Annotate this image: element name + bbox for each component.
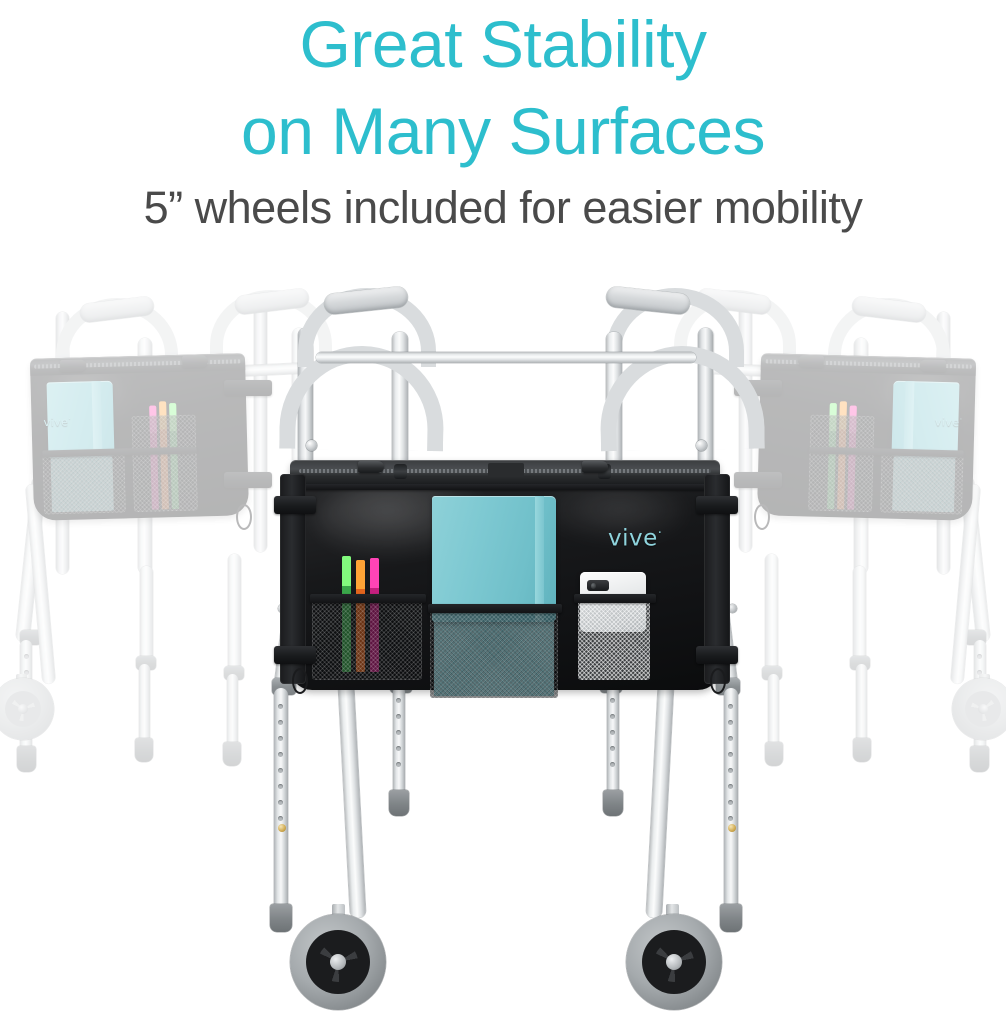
walker-center-holes-inner-left bbox=[396, 698, 401, 778]
walker-center-wheel-right-axle bbox=[666, 954, 682, 970]
walker-center-holes-inner-right bbox=[610, 698, 615, 778]
walker-center-brand-text: vive bbox=[608, 526, 658, 552]
walker-center-strap-right-lower bbox=[696, 646, 738, 664]
walker-center-cross-bar-top bbox=[316, 352, 696, 363]
walker-right-zipper-pull-a[interactable] bbox=[920, 359, 946, 372]
walker-center-wheel-left-axle bbox=[330, 954, 346, 970]
walker-center-brand-logo: vive· bbox=[608, 522, 662, 551]
walker-right-brand-text: vive bbox=[935, 415, 960, 429]
walker-center-mesh-pocket-right bbox=[578, 600, 650, 680]
walker-center-brand-dot: · bbox=[658, 526, 663, 541]
walker-left-mesh-pocket-left bbox=[42, 452, 126, 514]
walker-left-wheel-axle bbox=[18, 704, 28, 714]
walker-center-strap-left-lower bbox=[274, 646, 316, 664]
walker-center-phone-camera-bar bbox=[587, 580, 609, 590]
headline-line-1: Great Stability bbox=[0, 0, 1006, 88]
walker-center-rivet-right bbox=[696, 440, 707, 451]
headline-block: Great Stability on Many Surfaces 5” whee… bbox=[0, 0, 1006, 238]
walker-center-wheel-left[interactable] bbox=[290, 914, 386, 1010]
walker-right-brand-dot: · bbox=[960, 415, 963, 423]
walker-right-leg-tip-2 bbox=[853, 738, 871, 762]
walker-left-leg-rear-inner-ext bbox=[139, 664, 150, 744]
walker-right-notebook-band bbox=[903, 381, 914, 457]
walker-center-brass-knob-right bbox=[728, 824, 736, 832]
walker-right-leg-tip-1 bbox=[970, 746, 989, 772]
walker-left-leg-tip-1 bbox=[17, 746, 36, 772]
walker-left-leg-tip-2 bbox=[135, 738, 153, 762]
walker-center-mesh-pocket-center bbox=[430, 610, 558, 698]
walker-center-mesh-pocket-left bbox=[312, 600, 422, 680]
walker-left-zipper-pull-a[interactable] bbox=[60, 359, 86, 372]
walker-center-zipper-slider-left[interactable] bbox=[394, 464, 407, 479]
product-scene: vive· bbox=[0, 268, 1006, 1024]
walker-center-zipper-pull-right[interactable] bbox=[582, 461, 608, 473]
walker-right-leg-rear-inner bbox=[853, 566, 866, 664]
promo-image: Great Stability on Many Surfaces 5” whee… bbox=[0, 0, 1006, 1024]
walker-center-d-ring-left bbox=[292, 668, 308, 694]
walker-center-strap-right-upper bbox=[696, 496, 738, 514]
walker-left-brand-logo: vive· bbox=[43, 414, 71, 428]
walker-right-pouch: vive· bbox=[757, 353, 976, 521]
walker-center-holes-outer-left bbox=[278, 704, 283, 832]
walker-right-brand-logo: vive· bbox=[935, 414, 963, 428]
walker-left-leg-rear-inner bbox=[140, 566, 153, 664]
walker-center-front-panel-seam bbox=[290, 484, 720, 490]
walker-left-zipper-pull-b[interactable] bbox=[182, 355, 208, 368]
walker-center-strap-left-upper bbox=[274, 496, 316, 514]
walker-center-pouch: vive· bbox=[290, 460, 720, 690]
walker-center-holes-outer-right bbox=[728, 704, 733, 832]
walker-center-brass-knob-left bbox=[278, 824, 286, 832]
walker-center-pocket-edge-left bbox=[310, 594, 426, 603]
walker-center-center-tab bbox=[488, 463, 524, 477]
subheadline: 5” wheels included for easier mobility bbox=[0, 178, 1006, 238]
walker-right-wheel-axle bbox=[978, 704, 988, 714]
walker-center-d-ring-right bbox=[710, 668, 726, 694]
walker-center-tip-outer-right bbox=[720, 904, 742, 932]
walker-center-tip-inner-left bbox=[389, 790, 409, 816]
headline-line-2: on Many Surfaces bbox=[0, 88, 1006, 174]
walker-right-wheel[interactable] bbox=[952, 678, 1006, 740]
walker-left-brand-dot: · bbox=[68, 415, 71, 423]
walker-left-brand-text: vive bbox=[43, 416, 68, 430]
walker-left-pouch: vive· bbox=[30, 353, 249, 521]
walker-left-mesh-pocket-right bbox=[131, 415, 197, 513]
walker-center-tip-outer-left bbox=[270, 904, 292, 932]
walker-center-wheel-right[interactable] bbox=[626, 914, 722, 1010]
walker-right-zipper-pull-b[interactable] bbox=[798, 355, 824, 368]
walker-left-wheel[interactable] bbox=[0, 678, 54, 740]
walker-center-pocket-edge-center bbox=[428, 604, 562, 613]
walker-right-mesh-pocket-right bbox=[808, 415, 874, 513]
walker-right-leg-rear-inner-ext bbox=[856, 664, 867, 744]
walker-center-tip-inner-right bbox=[603, 790, 623, 816]
walker-center-rivet-left bbox=[306, 440, 317, 451]
walker-left-notebook-band bbox=[92, 381, 103, 457]
walker-right-mesh-pocket-left bbox=[880, 452, 964, 514]
walker-center-pocket-edge-right bbox=[574, 594, 656, 603]
walker-center-zipper-pull-left[interactable] bbox=[358, 461, 384, 473]
walker-center: vive· bbox=[228, 268, 784, 1024]
